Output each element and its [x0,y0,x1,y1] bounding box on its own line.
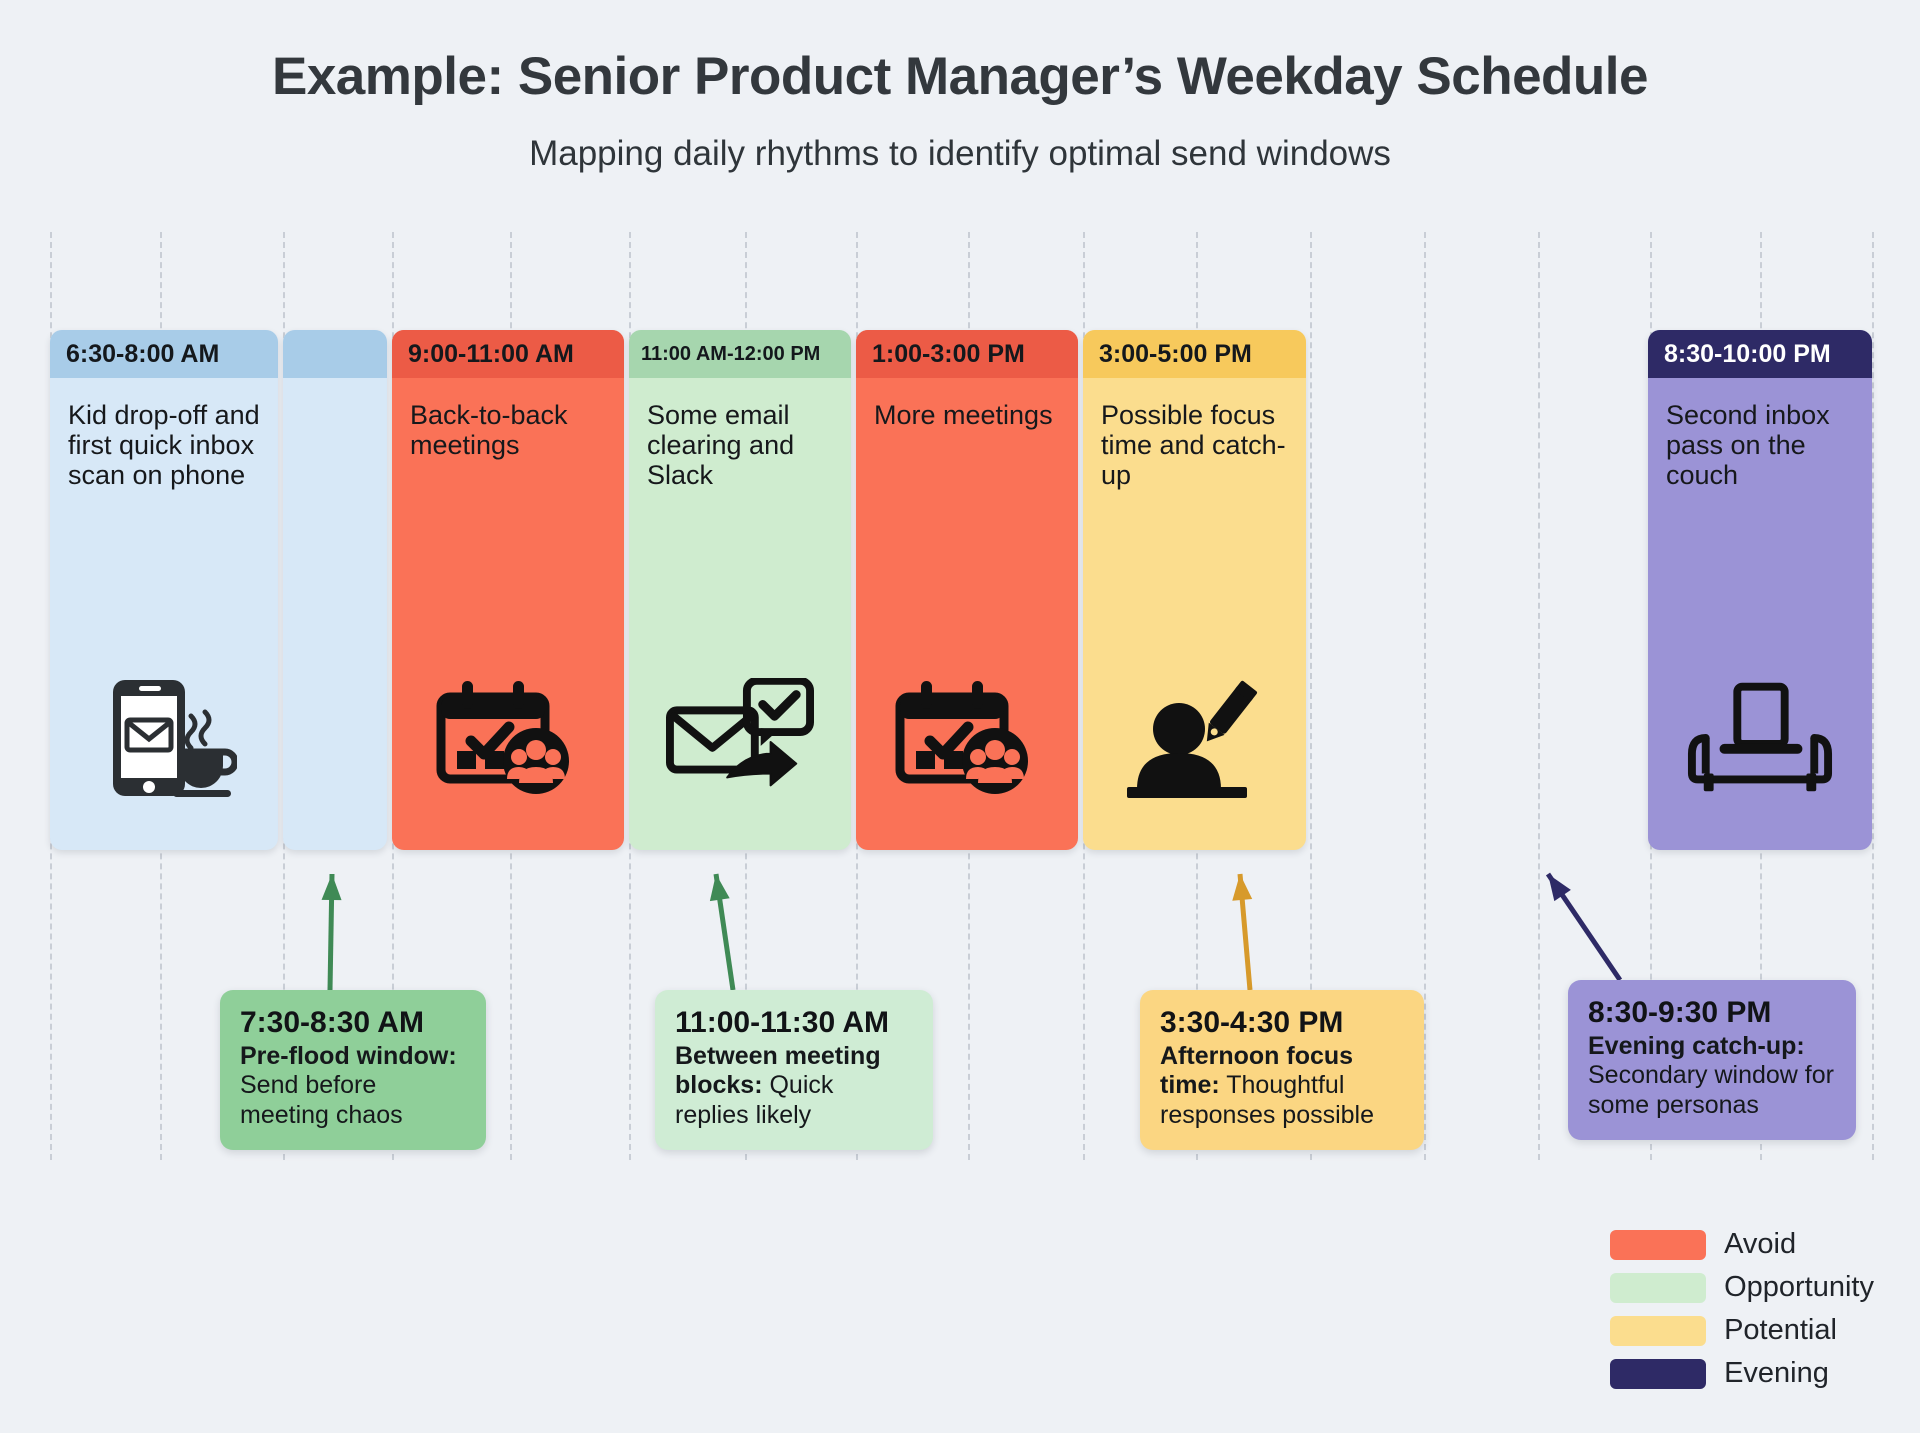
timeline-card-focus-time[interactable]: 3:00-5:00 PMPossible focus time and catc… [1083,330,1306,850]
card-body: More meetings [856,378,1078,850]
card-time-label: 8:30-10:00 PM [1648,330,1872,378]
page-title: Example: Senior Product Manager’s Weekda… [0,46,1920,107]
card-body: Kid drop-off and first quick inbox scan … [50,378,278,850]
legend-swatch [1610,1359,1706,1389]
card-description: Possible focus time and catch-up [1101,400,1288,491]
annotation-arrow-afternoon-focus-time [1218,862,1272,990]
annotation-time: 8:30-9:30 PM [1588,996,1836,1030]
card-body: Back-to-back meetings [392,378,624,850]
annotation-text: Between meeting blocks: Quick replies li… [675,1042,913,1130]
card-description: Kid drop-off and first quick inbox scan … [68,400,260,491]
annotation-evening-catch-up[interactable]: 8:30-9:30 PMEvening catch-up: Secondary … [1568,980,1856,1140]
card-time-label: 1:00-3:00 PM [856,330,1078,378]
legend-item-opportunity[interactable]: Opportunity [1610,1266,1874,1309]
page-subtitle: Mapping daily rhythms to identify optima… [0,134,1920,174]
card-time-label: 11:00 AM-12:00 PM [629,330,851,378]
gridline-13 [1538,232,1540,1160]
annotation-arrow-evening-catch-up [1526,862,1642,980]
card-description: Some email clearing and Slack [647,400,833,491]
laptop-couch-icon [1686,678,1834,798]
card-time-label: 6:30-8:00 AM [50,330,278,378]
timeline-card-morning-routine[interactable]: 6:30-8:00 AMKid drop-off and first quick… [50,330,278,850]
annotation-time: 11:00-11:30 AM [675,1006,913,1040]
timeline-card-commute-gap[interactable] [283,330,387,850]
timeline-card-back-to-back-meetings[interactable]: 9:00-11:00 AMBack-to-back meetings [392,330,624,850]
annotation-pre-flood-window[interactable]: 7:30-8:30 AMPre-flood window: Send befor… [220,990,486,1150]
annotation-text: Afternoon focus time: Thoughtful respons… [1160,1042,1404,1130]
annotation-text-emphasis: Evening catch-up: [1588,1032,1805,1060]
timeline-card-evening-inbox[interactable]: 8:30-10:00 PMSecond inbox pass on the co… [1648,330,1872,850]
annotation-arrow-pre-flood-window [308,862,354,990]
infographic-canvas: Example: Senior Product Manager’s Weekda… [0,0,1920,1433]
card-body: Second inbox pass on the couch [1648,378,1872,850]
legend-swatch [1610,1316,1706,1346]
card-body [283,378,387,850]
legend-label: Opportunity [1724,1271,1874,1304]
gridline-16 [1872,232,1874,1160]
annotation-afternoon-focus-time[interactable]: 3:30-4:30 PMAfternoon focus time: Though… [1140,990,1424,1150]
phone-email-coffee-icon [90,678,238,798]
card-description: More meetings [874,400,1060,430]
legend-item-evening[interactable]: Evening [1610,1352,1874,1395]
calendar-check-people-icon [434,678,582,798]
legend: AvoidOpportunityPotentialEvening [1610,1223,1874,1395]
card-time-label: 9:00-11:00 AM [392,330,624,378]
timeline-card-email-clearing[interactable]: 11:00 AM-12:00 PMSome email clearing and… [629,330,851,850]
legend-label: Potential [1724,1314,1837,1347]
annotation-text-emphasis: Pre-flood window: [240,1042,457,1070]
legend-swatch [1610,1230,1706,1260]
legend-item-potential[interactable]: Potential [1610,1309,1874,1352]
card-time-label [283,330,387,378]
person-writing-desk-icon [1121,678,1269,798]
annotation-text-rest: Send before meeting chaos [240,1071,403,1128]
card-time-label: 3:00-5:00 PM [1083,330,1306,378]
annotation-text: Pre-flood window: Send before meeting ch… [240,1042,466,1130]
legend-item-avoid[interactable]: Avoid [1610,1223,1874,1266]
legend-swatch [1610,1273,1706,1303]
annotation-text: Evening catch-up: Secondary window for s… [1588,1032,1836,1120]
timeline-card-more-meetings[interactable]: 1:00-3:00 PMMore meetings [856,330,1078,850]
annotation-time: 7:30-8:30 AM [240,1006,466,1040]
card-body: Some email clearing and Slack [629,378,851,850]
legend-label: Avoid [1724,1228,1796,1261]
gridline-12 [1424,232,1426,1160]
legend-label: Evening [1724,1357,1829,1390]
email-reply-chat-check-icon [666,678,814,798]
annotation-between-meeting-blocks[interactable]: 11:00-11:30 AMBetween meeting blocks: Qu… [655,990,933,1150]
card-description: Back-to-back meetings [410,400,606,460]
annotation-time: 3:30-4:30 PM [1160,1006,1404,1040]
card-description: Second inbox pass on the couch [1666,400,1854,491]
card-body: Possible focus time and catch-up [1083,378,1306,850]
annotation-text-rest: Secondary window for some personas [1588,1061,1834,1118]
calendar-check-people-icon [893,678,1041,798]
